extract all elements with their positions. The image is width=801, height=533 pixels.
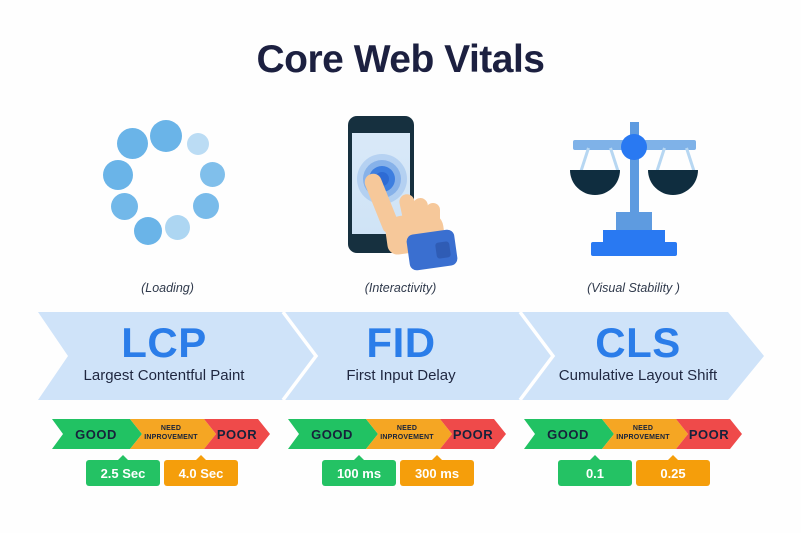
icon-cell-cls [500, 112, 767, 272]
threshold-chip-need-cls: 0.25 [636, 460, 710, 486]
threshold-value-good-cls: 0.1 [586, 466, 604, 481]
rating-group-lcp: GOOD NEED INPROVEMENT POOR 2.5 Sec 4.0 S… [52, 419, 270, 519]
scales-base-bottom [591, 242, 677, 256]
icon-row [0, 112, 801, 272]
band-full-fid: First Input Delay [283, 367, 519, 384]
icon-cell-fid [267, 112, 534, 272]
chip-pointer-icon [589, 455, 601, 461]
icon-cell-lcp [34, 112, 301, 272]
threshold-chip-need-fid: 300 ms [400, 460, 474, 486]
threshold-value-good-lcp: 2.5 Sec [101, 466, 146, 481]
threshold-value-need-lcp: 4.0 Sec [179, 466, 224, 481]
rating-bar-shape [524, 419, 742, 449]
band-full-lcp: Largest Contentful Paint [46, 367, 282, 384]
band-cell-lcp: LCP Largest Contentful Paint [46, 312, 282, 400]
rating-bar-fid: GOOD NEED INPROVEMENT POOR [288, 419, 506, 449]
threshold-chips-cls: 0.1 0.25 [524, 460, 742, 488]
threshold-chip-good-cls: 0.1 [558, 460, 632, 486]
band-cell-cls: CLS Cumulative Layout Shift [520, 312, 756, 400]
chip-pointer-icon [353, 455, 365, 461]
rating-bar-shape [52, 419, 270, 449]
threshold-chip-need-lcp: 4.0 Sec [164, 460, 238, 486]
chip-pointer-icon [195, 455, 207, 461]
rating-group-cls: GOOD NEED INPROVEMENT POOR 0.1 0.25 [524, 419, 742, 519]
chip-pointer-icon [117, 455, 129, 461]
band-abbr-cls: CLS [520, 322, 756, 364]
rating-bar-lcp: GOOD NEED INPROVEMENT POOR [52, 419, 270, 449]
band-abbr-fid: FID [283, 322, 519, 364]
threshold-chip-good-lcp: 2.5 Sec [86, 460, 160, 486]
balance-scales-icon [559, 112, 709, 267]
band-cell-fid: FID First Input Delay [283, 312, 519, 400]
rating-bar-cls: GOOD NEED INPROVEMENT POOR [524, 419, 742, 449]
scales-pivot [621, 134, 647, 160]
hand-icon [378, 170, 468, 265]
chip-pointer-icon [667, 455, 679, 461]
rating-bar-shape [288, 419, 506, 449]
threshold-value-need-fid: 300 ms [415, 466, 459, 481]
caption-row: (Loading) (Interactivity) (Visual Stabil… [0, 281, 801, 301]
metric-band: LCP Largest Contentful Paint FID First I… [38, 312, 764, 400]
chip-pointer-icon [431, 455, 443, 461]
threshold-chips-fid: 100 ms 300 ms [288, 460, 506, 488]
threshold-value-need-cls: 0.25 [660, 466, 685, 481]
caption-interactivity: (Interactivity) [267, 281, 534, 295]
caption-loading: (Loading) [34, 281, 301, 295]
rating-group-fid: GOOD NEED INPROVEMENT POOR 100 ms 300 ms [288, 419, 506, 519]
phone-notch [370, 116, 392, 123]
page-title: Core Web Vitals [0, 38, 801, 82]
loading-spinner-icon [103, 120, 233, 250]
threshold-chip-good-fid: 100 ms [322, 460, 396, 486]
scales-pan-right [648, 170, 698, 195]
threshold-chips-lcp: 2.5 Sec 4.0 Sec [52, 460, 270, 488]
phone-tap-icon [326, 112, 476, 267]
scales-pan-left [570, 170, 620, 195]
caption-visual-stability: (Visual Stability ) [500, 281, 767, 295]
band-full-cls: Cumulative Layout Shift [520, 367, 756, 384]
threshold-value-good-fid: 100 ms [337, 466, 381, 481]
band-abbr-lcp: LCP [46, 322, 282, 364]
hand-cuff [434, 241, 450, 259]
